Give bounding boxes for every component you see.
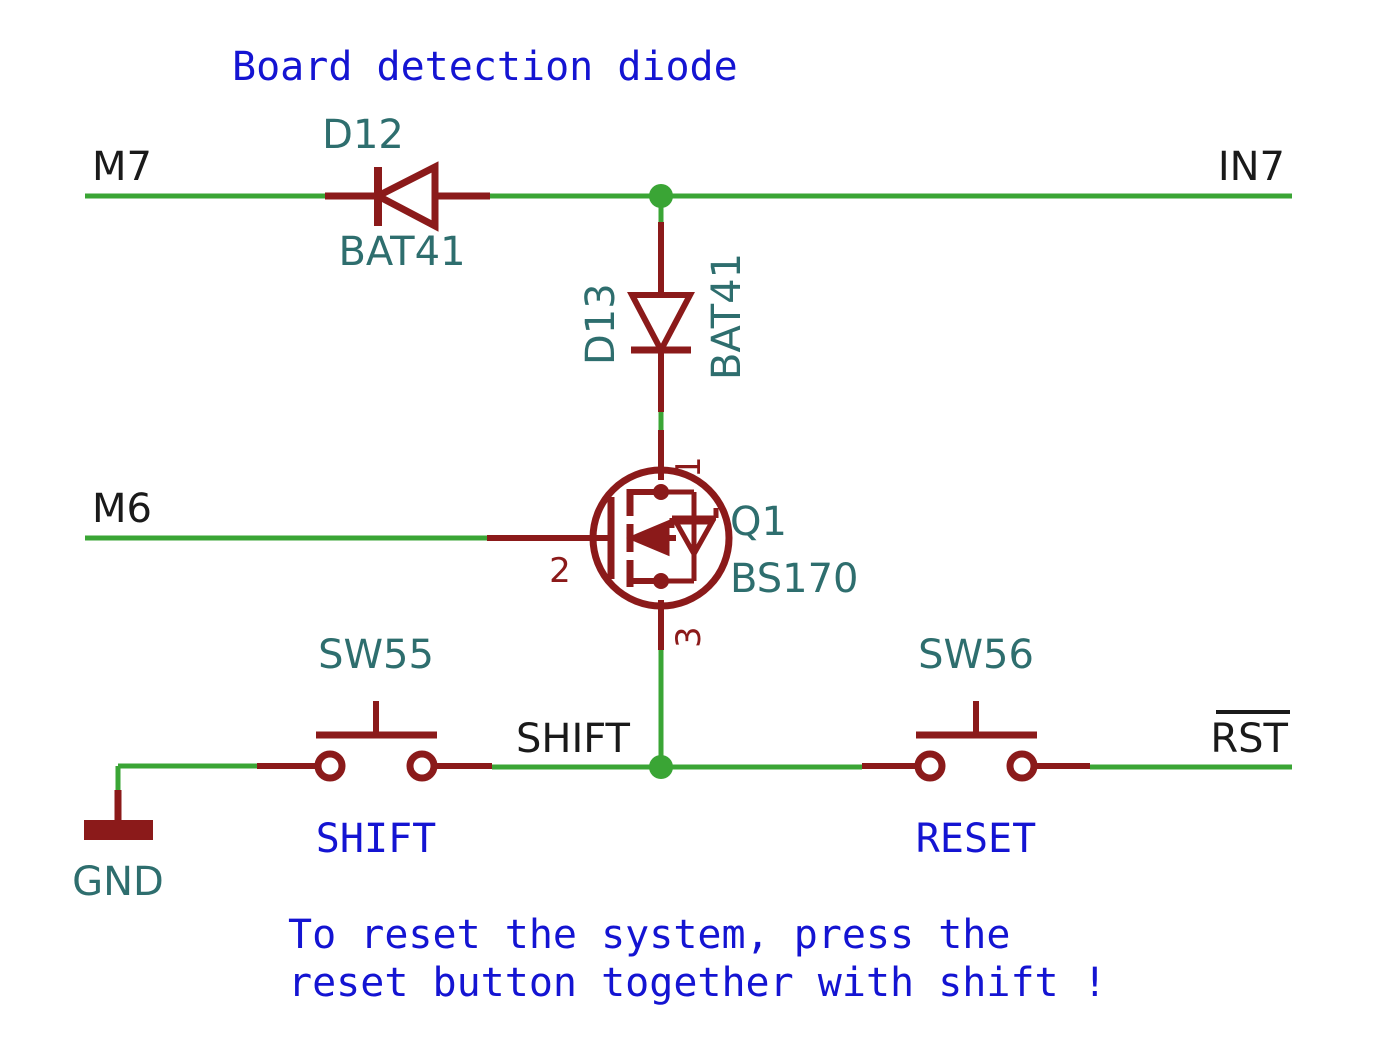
net-label-in7: IN7 — [1218, 144, 1285, 190]
sw56-reference-label: SW56 — [918, 632, 1034, 678]
canvas-background — [0, 0, 1376, 1062]
net-label-m7: M7 — [92, 144, 152, 190]
sw56-function-label: RESET — [916, 816, 1036, 862]
title-note-board-detection-diode: Board detection diode — [232, 44, 738, 90]
schematic-canvas: D12 BAT41 M7 IN7 D13 BAT41 — [0, 0, 1376, 1062]
sw55-function-label: SHIFT — [316, 816, 436, 862]
q1-pin3-label: 3 — [669, 626, 709, 648]
gnd-label: GND — [72, 859, 164, 905]
net-label-rst: RST — [1210, 716, 1288, 762]
d12-reference-label: D12 — [322, 112, 404, 158]
q1-pin2-label: 2 — [549, 551, 571, 591]
net-label-shift: SHIFT — [516, 716, 631, 762]
gnd-bar — [84, 820, 153, 840]
reset-instruction-line1: To reset the system, press the — [288, 912, 1010, 958]
q1-value-label: BS170 — [730, 556, 858, 602]
d13-value-label: BAT41 — [704, 253, 750, 380]
d12-value-label: BAT41 — [338, 229, 465, 275]
junction-dot-shift — [649, 755, 673, 779]
circuit-schematic: D12 BAT41 M7 IN7 D13 BAT41 — [0, 0, 1376, 1062]
d13-reference-label: D13 — [578, 283, 624, 365]
q1-pin1-label: 1 — [669, 456, 709, 478]
q1-reference-label: Q1 — [730, 499, 787, 545]
net-label-rst-group: RST — [1210, 712, 1290, 762]
sw55-reference-label: SW55 — [318, 632, 434, 678]
reset-instruction-line2: reset button together with shift ! — [288, 960, 1107, 1006]
net-label-m6: M6 — [92, 486, 152, 532]
